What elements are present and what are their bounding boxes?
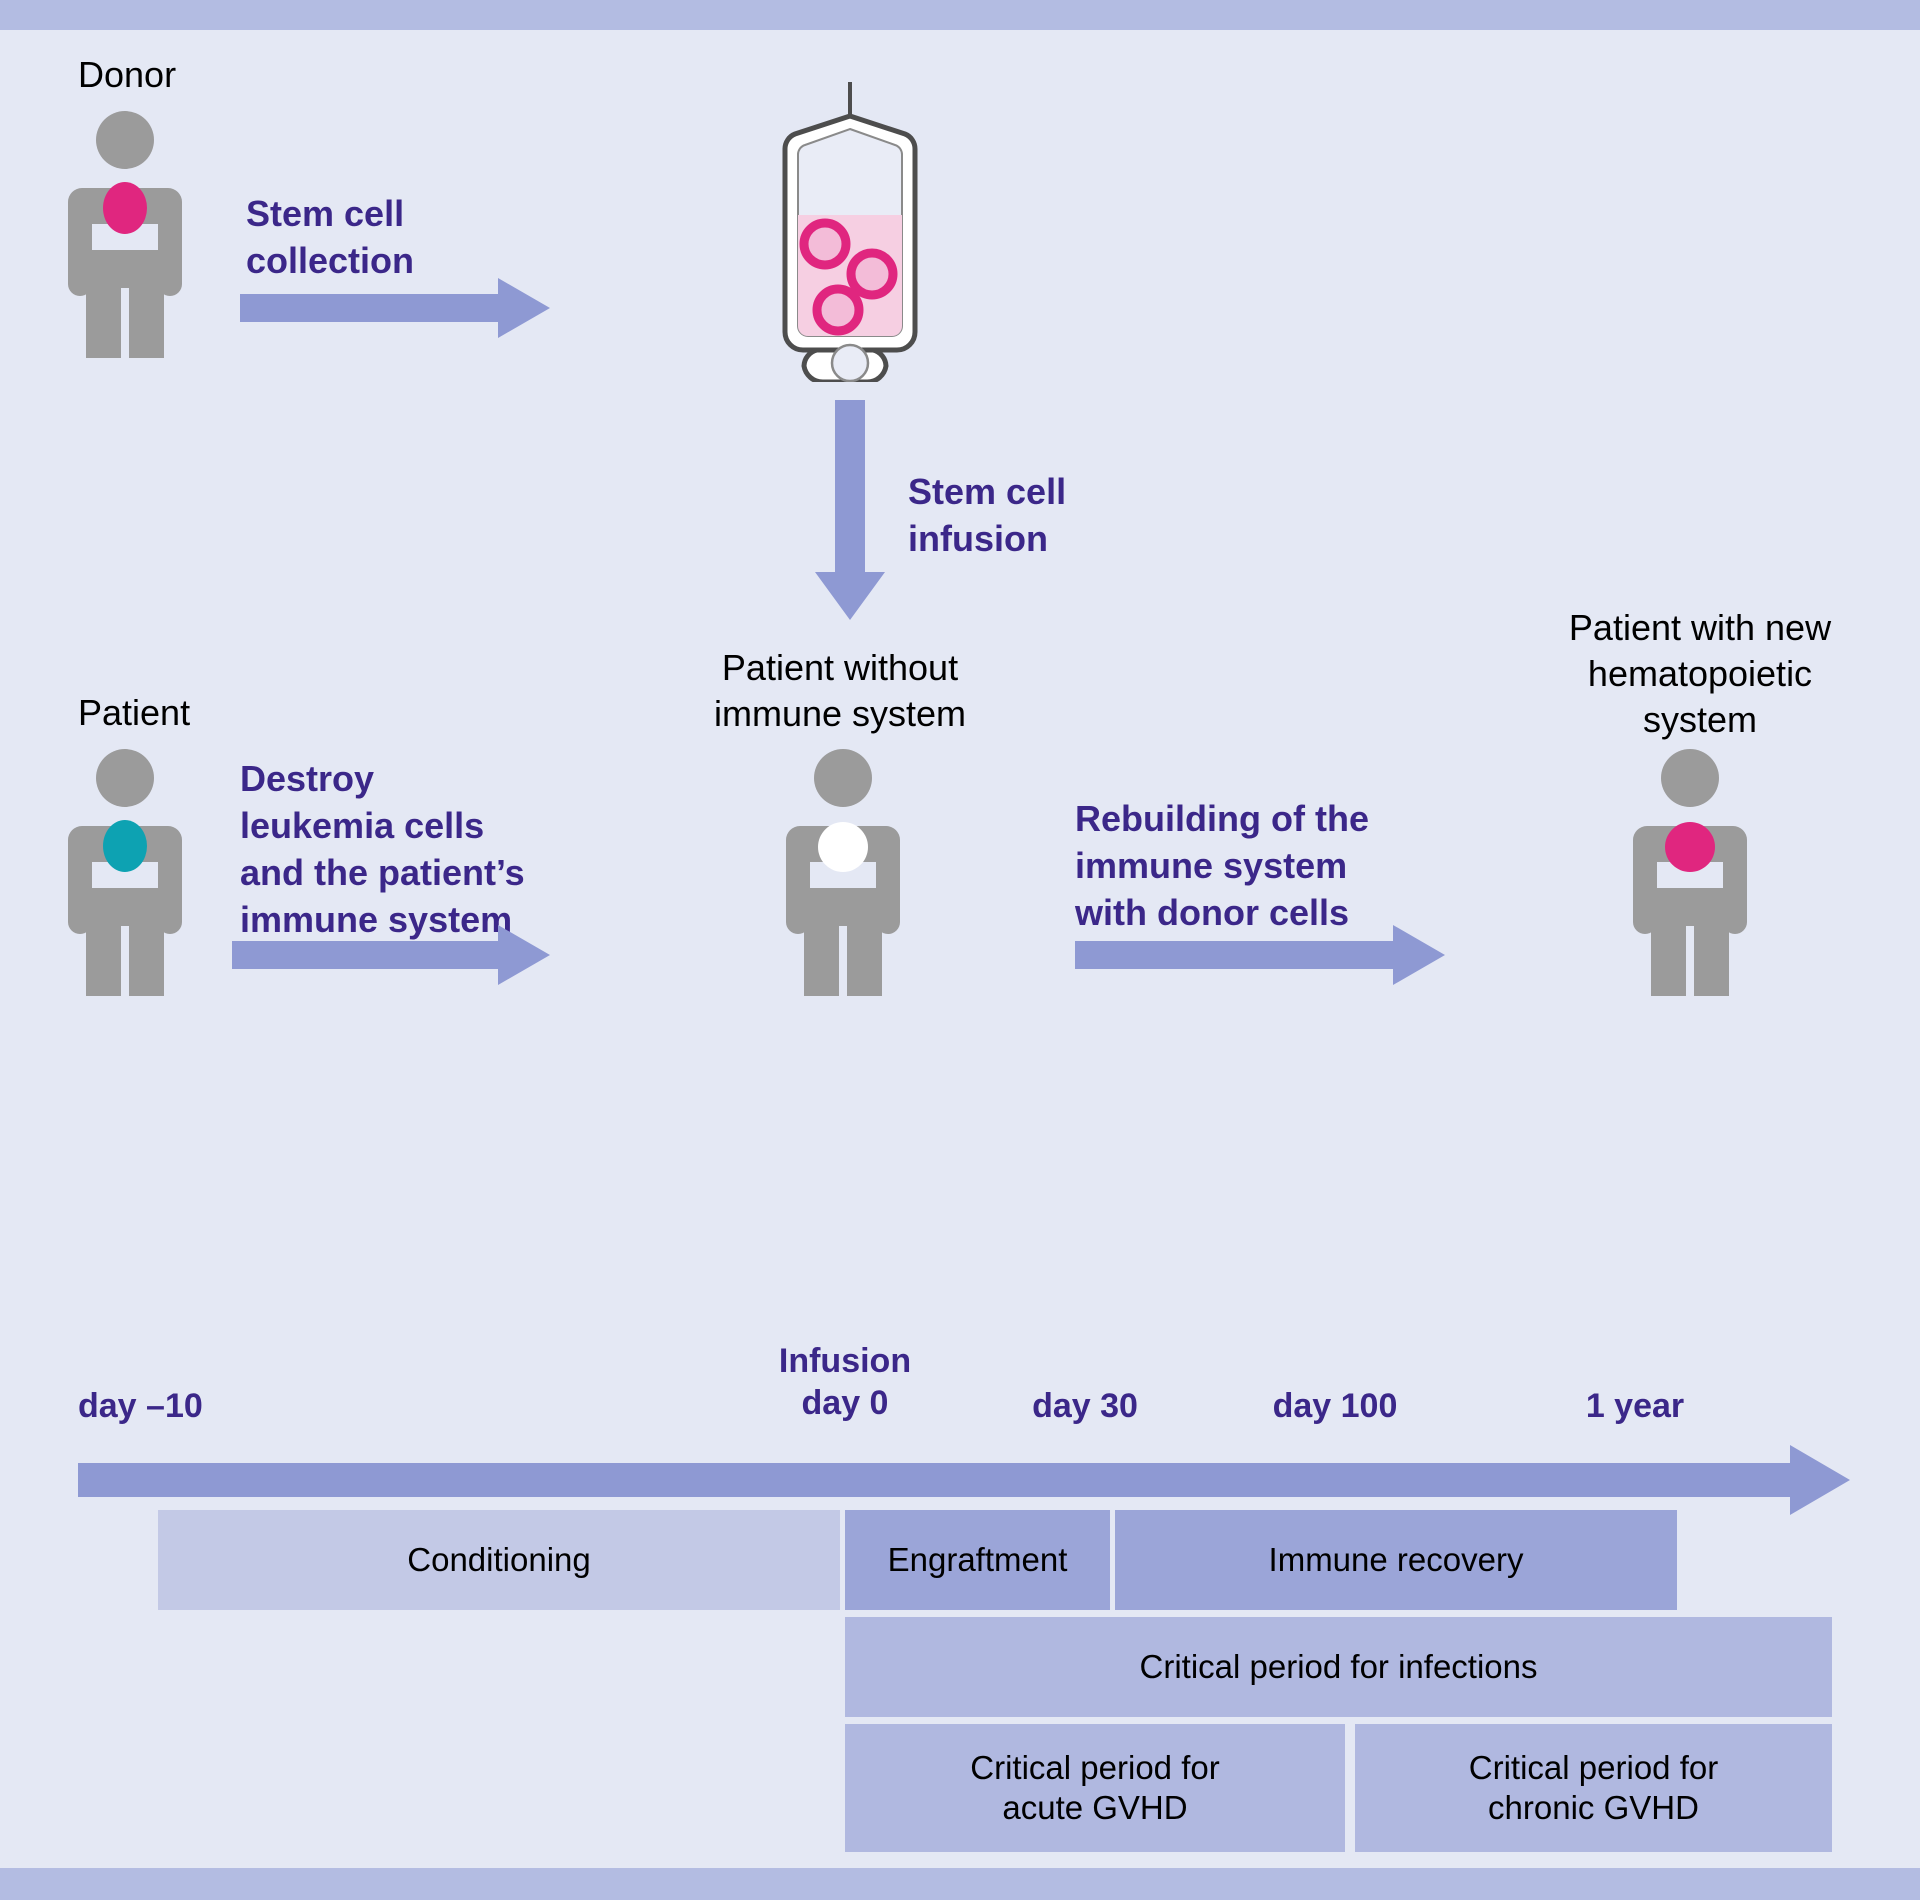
patient-without-immune-person-icon — [778, 748, 908, 998]
step-rebuilding-immune: Rebuilding of the immune system with don… — [1075, 795, 1369, 936]
timeline-tick-1-year: 1 year — [1480, 1385, 1790, 1427]
phase-critical-period-acute-gvhd: Critical period for acute GVHD — [845, 1724, 1345, 1852]
step-stem-cell-collection: Stem cell collection — [246, 190, 414, 284]
arrow-destroy-icon — [232, 925, 550, 990]
patient-new-system-person-icon — [1625, 748, 1755, 998]
phase-critical-period-infections: Critical period for infections — [845, 1617, 1832, 1717]
arrow-rebuild-icon — [1075, 925, 1445, 990]
blood-bag-icon — [755, 82, 945, 387]
patient-person-icon — [60, 748, 190, 998]
patient-without-immune-label: Patient without immune system — [620, 645, 1060, 737]
donor-stem-cell — [103, 182, 147, 234]
step-stem-cell-infusion: Stem cell infusion — [908, 468, 1066, 562]
new-stem-cell — [1665, 822, 1715, 872]
donor-label: Donor — [78, 52, 176, 98]
patient-leukemia-cell — [103, 820, 147, 872]
arrow-infusion-icon — [815, 400, 885, 625]
phase-engraftment: Engraftment — [845, 1510, 1110, 1610]
phase-conditioning: Conditioning — [158, 1510, 840, 1610]
step-destroy-leukemia: Destroy leukemia cells and the patient’s… — [240, 755, 525, 943]
timeline-axis-arrow-icon — [78, 1445, 1850, 1520]
patient-new-system-label: Patient with new hematopoietic system — [1490, 605, 1910, 743]
phase-critical-period-chronic-gvhd: Critical period for chronic GVHD — [1355, 1724, 1832, 1852]
timeline-tick-day-100: day 100 — [1180, 1385, 1490, 1427]
bottom-band — [0, 1868, 1920, 1900]
timeline-tick-day-minus-10: day –10 — [0, 1385, 310, 1427]
top-band — [0, 0, 1920, 30]
arrow-collection-icon — [240, 278, 550, 343]
phase-immune-recovery: Immune recovery — [1115, 1510, 1677, 1610]
donor-person-icon — [60, 110, 190, 360]
patient-label: Patient — [78, 690, 190, 736]
empty-immune-cell — [818, 822, 868, 872]
